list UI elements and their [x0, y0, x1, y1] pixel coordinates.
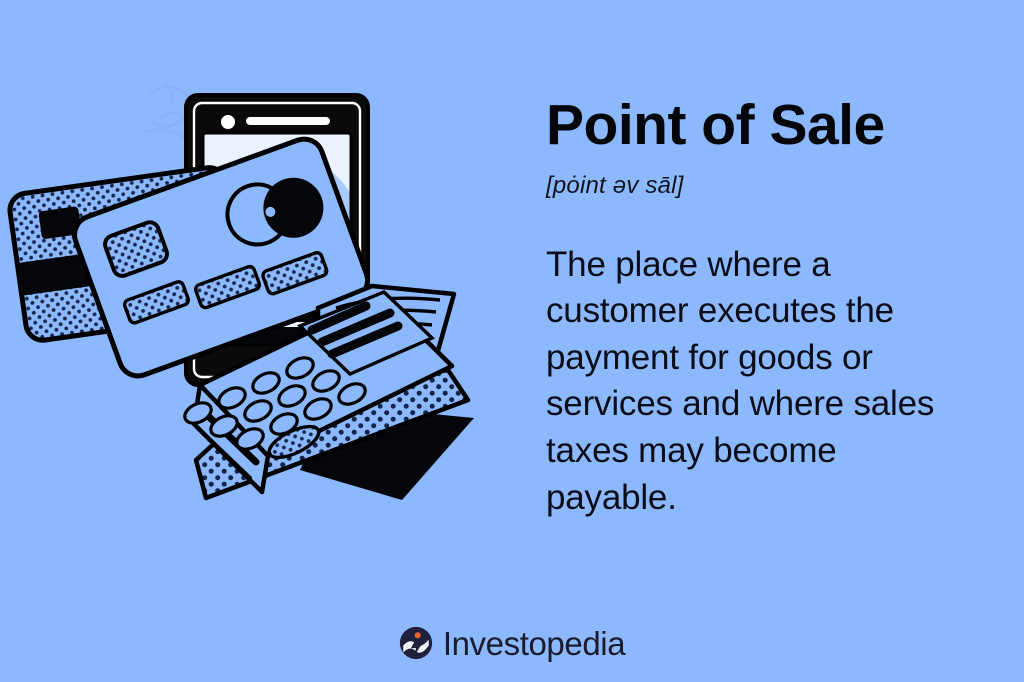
definition-text: The place where a customer executes the … [546, 242, 971, 521]
phone-speaker-icon [246, 117, 330, 125]
point-of-sale-illustration [0, 0, 520, 600]
phone-camera-icon [221, 115, 235, 129]
brand-name: Investopedia [443, 627, 625, 660]
pronunciation: [pȯint əv sāl] [546, 172, 976, 200]
definition-text-block: Point of Sale [pȯint əv sāl] The place w… [546, 96, 976, 521]
page-title: Point of Sale [546, 96, 976, 156]
brand-footer: Investopedia [0, 626, 1024, 660]
definition-card: Point of Sale [pȯint əv sāl] The place w… [0, 0, 1024, 682]
investopedia-logo-icon [399, 626, 433, 660]
